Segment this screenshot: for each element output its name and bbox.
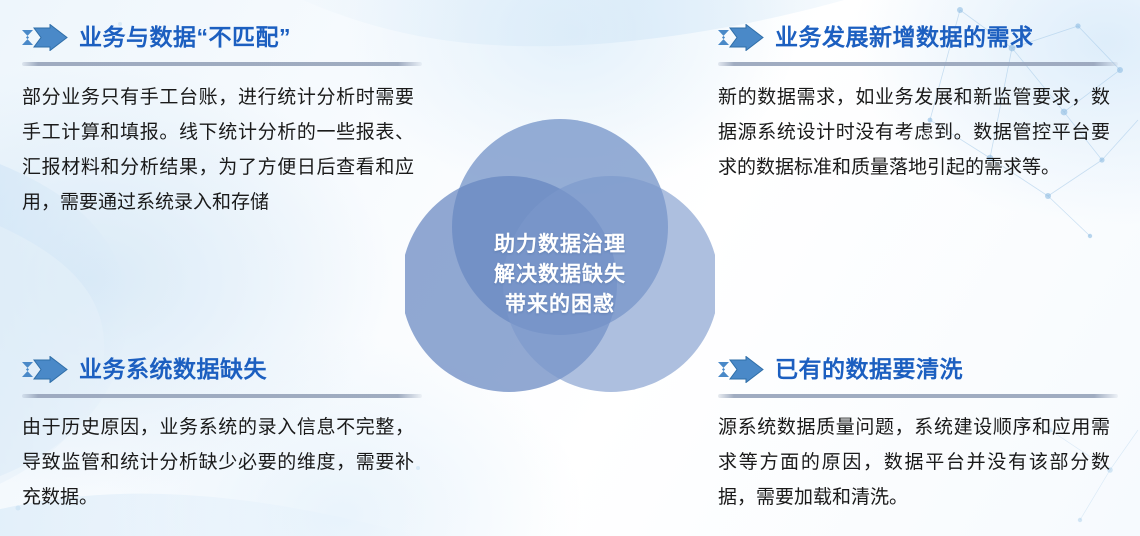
arrow-right-icon: [22, 356, 68, 383]
venn-center: 助力数据治理 解决数据缺失 带来的困惑: [405, 112, 715, 402]
quadrant-top-right: 业务发展新增数据的需求 新的数据需求，如业务发展和新监管要求，数据源系统设计时没…: [718, 18, 1118, 185]
body-text-top-left: 部分业务只有手工台账，进行统计分析时需要手工计算和填报。线下统计分析的一些报表、…: [22, 80, 414, 220]
venn-center-text: 助力数据治理 解决数据缺失 带来的困惑: [405, 230, 715, 320]
heading-row-top-right: 业务发展新增数据的需求: [718, 18, 1118, 56]
heading-divider-top-left: [22, 62, 422, 66]
heading-divider-top-right: [718, 62, 1118, 66]
body-text-bottom-right: 源系统数据质量问题，系统建设顺序和应用需求等方面的原因，数据平台并没有该部分数据…: [718, 410, 1110, 515]
venn-line-2: 解决数据缺失: [405, 260, 715, 290]
heading-row-bottom-left: 业务系统数据缺失: [22, 350, 422, 388]
venn-line-1: 助力数据治理: [405, 230, 715, 260]
heading-divider-bottom-right: [718, 394, 1118, 398]
body-text-top-right: 新的数据需求，如业务发展和新监管要求，数据源系统设计时没有考虑到。数据管控平台要…: [718, 80, 1110, 185]
arrow-right-icon: [718, 24, 764, 51]
infographic-slide: 助力数据治理 解决数据缺失 带来的困惑 业务与数据“不匹配” 部分业务只有手工台…: [0, 0, 1140, 536]
quadrant-bottom-left: 业务系统数据缺失 由于历史原因，业务系统的录入信息不完整，导致监管和统计分析缺少…: [22, 350, 422, 515]
heading-title-bottom-left: 业务系统数据缺失: [79, 358, 267, 381]
heading-divider-bottom-left: [22, 394, 422, 398]
heading-title-top-left: 业务与数据“不匹配”: [79, 26, 291, 49]
heading-row-top-left: 业务与数据“不匹配”: [22, 18, 422, 56]
heading-title-bottom-right: 已有的数据要清洗: [775, 358, 963, 381]
heading-title-top-right: 业务发展新增数据的需求: [775, 26, 1034, 49]
arrow-right-icon: [718, 356, 764, 383]
quadrant-top-left: 业务与数据“不匹配” 部分业务只有手工台账，进行统计分析时需要手工计算和填报。线…: [22, 18, 422, 220]
heading-row-bottom-right: 已有的数据要清洗: [718, 350, 1118, 388]
body-text-bottom-left: 由于历史原因，业务系统的录入信息不完整，导致监管和统计分析缺少必要的维度，需要补…: [22, 410, 414, 515]
arrow-right-icon: [22, 24, 68, 51]
quadrant-bottom-right: 已有的数据要清洗 源系统数据质量问题，系统建设顺序和应用需求等方面的原因，数据平…: [718, 350, 1118, 515]
venn-line-3: 带来的困惑: [405, 290, 715, 320]
